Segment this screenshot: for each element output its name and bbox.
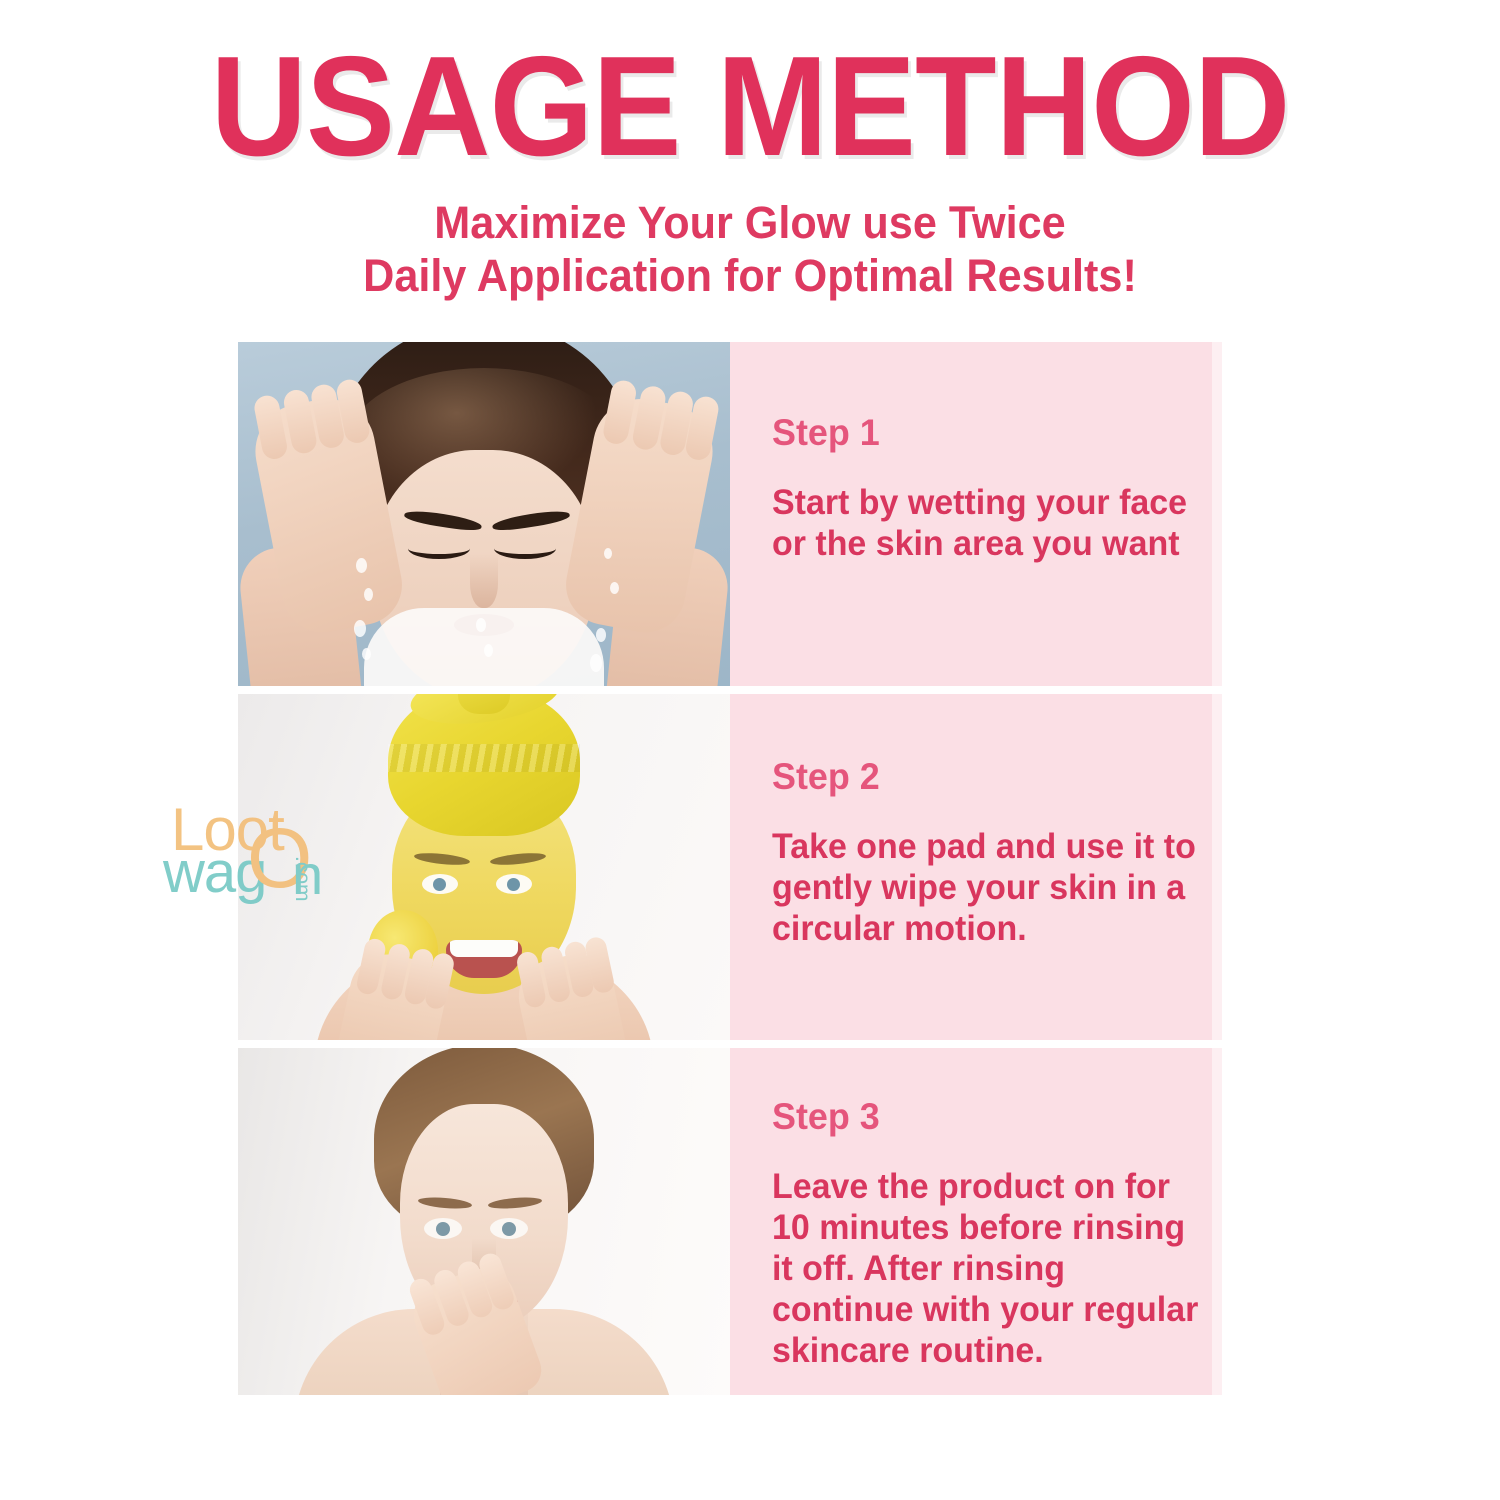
- step-3-body-line-3: it off. After rinsing: [772, 1248, 1183, 1289]
- water-droplet: [590, 654, 602, 672]
- step-1-body: Start by wetting your face or the skin a…: [772, 482, 1183, 564]
- step-3-body-line-4: continue with your regular: [772, 1289, 1183, 1330]
- step-row-3: Step 3 Leave the product on for 10 minut…: [238, 1048, 1222, 1395]
- water-droplet: [354, 620, 366, 637]
- subtitle-line-1: Maximize Your Glow use Twice: [434, 197, 1065, 248]
- water-droplet: [610, 582, 619, 594]
- step-row-2: Step 2 Take one pad and use it to gently…: [238, 694, 1222, 1040]
- step-2-body-line-1: Take one pad and use it to: [772, 826, 1183, 867]
- page-title: USAGE METHOD: [45, 36, 1455, 178]
- eye-left: [408, 538, 470, 559]
- hand-right: [512, 947, 633, 1040]
- step-2-body-line-2: gently wipe your skin in a: [772, 867, 1183, 908]
- step-2-body-line-3: circular motion.: [772, 908, 1183, 949]
- step-3-image: [238, 1048, 730, 1395]
- step-2-body: Take one pad and use it to gently wipe y…: [772, 826, 1183, 949]
- eye-left: [424, 1218, 462, 1239]
- hand-left: [332, 947, 453, 1040]
- water-droplet: [356, 558, 367, 573]
- smiling-mouth: [446, 940, 522, 978]
- water-droplet: [476, 618, 486, 632]
- water-droplet: [596, 628, 606, 642]
- step-row-1: Step 1 Start by wetting your face or the…: [238, 342, 1222, 686]
- eye-left: [422, 874, 458, 894]
- watermark-com-text: .com: [292, 856, 313, 902]
- subtitle-line-2: Daily Application for Optimal Results!: [30, 249, 1470, 302]
- step-3-body-line-2: 10 minutes before rinsing: [772, 1207, 1183, 1248]
- usage-method-infographic: USAGE METHOD Maximize Your Glow use Twic…: [0, 0, 1500, 1500]
- step-1-body-line-2: or the skin area you want: [772, 523, 1183, 564]
- eye-right: [494, 538, 556, 559]
- step-2-panel: Step 2 Take one pad and use it to gently…: [730, 694, 1222, 1040]
- page-subtitle: Maximize Your Glow use Twice Daily Appli…: [30, 196, 1470, 302]
- water-droplet: [604, 548, 612, 559]
- step-1-text: Step 1 Start by wetting your face or the…: [772, 412, 1196, 564]
- hair-towel: [388, 694, 580, 836]
- water-droplet: [484, 644, 493, 657]
- step-3-text: Step 3 Leave the product on for 10 minut…: [772, 1096, 1196, 1371]
- step-1-label: Step 1: [772, 412, 1183, 454]
- water-droplet: [362, 648, 371, 660]
- step-3-panel: Step 3 Leave the product on for 10 minut…: [730, 1048, 1222, 1395]
- lootwagon-watermark-logo: Loot wag O n .com: [163, 800, 338, 905]
- step-2-text: Step 2 Take one pad and use it to gently…: [772, 756, 1196, 949]
- eye-right: [496, 874, 532, 894]
- step-3-body-line-1: Leave the product on for: [772, 1166, 1183, 1207]
- step-3-body-line-5: skincare routine.: [772, 1330, 1183, 1371]
- step-1-panel: Step 1 Start by wetting your face or the…: [730, 342, 1222, 686]
- step-1-image: [238, 342, 730, 686]
- step-1-body-line-1: Start by wetting your face: [772, 482, 1183, 523]
- nose-shape: [470, 554, 498, 608]
- step-3-body: Leave the product on for 10 minutes befo…: [772, 1166, 1183, 1371]
- eye-right: [490, 1218, 528, 1239]
- step-2-label: Step 2: [772, 756, 1183, 798]
- step-3-label: Step 3: [772, 1096, 1183, 1138]
- water-droplet: [364, 588, 373, 601]
